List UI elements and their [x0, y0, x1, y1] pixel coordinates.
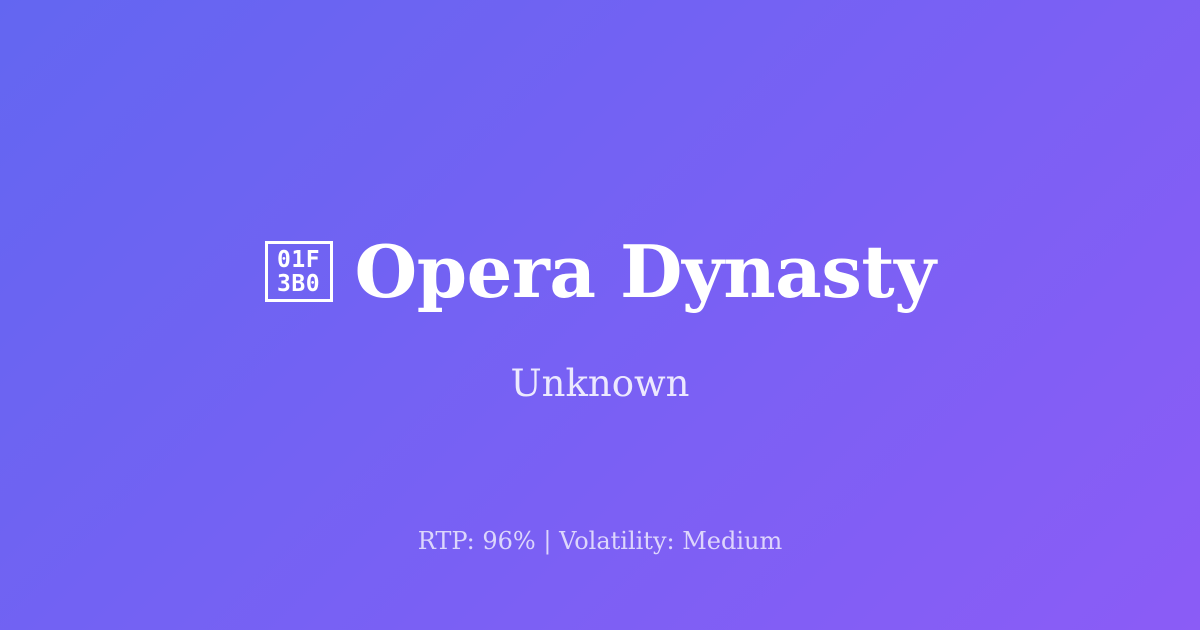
game-title: Opera Dynasty — [355, 232, 936, 311]
tofu-hex-bottom: 3B0 — [277, 272, 320, 296]
game-og-card: 01F 3B0 Opera Dynasty Unknown RTP: 96% |… — [0, 0, 1200, 630]
game-meta-line: RTP: 96% | Volatility: Medium — [0, 526, 1200, 557]
title-row: 01F 3B0 Opera Dynasty — [0, 232, 1200, 311]
tofu-hex-top: 01F — [277, 248, 320, 272]
slot-machine-emoji-icon: 01F 3B0 — [265, 241, 333, 302]
game-provider: Unknown — [0, 362, 1200, 406]
